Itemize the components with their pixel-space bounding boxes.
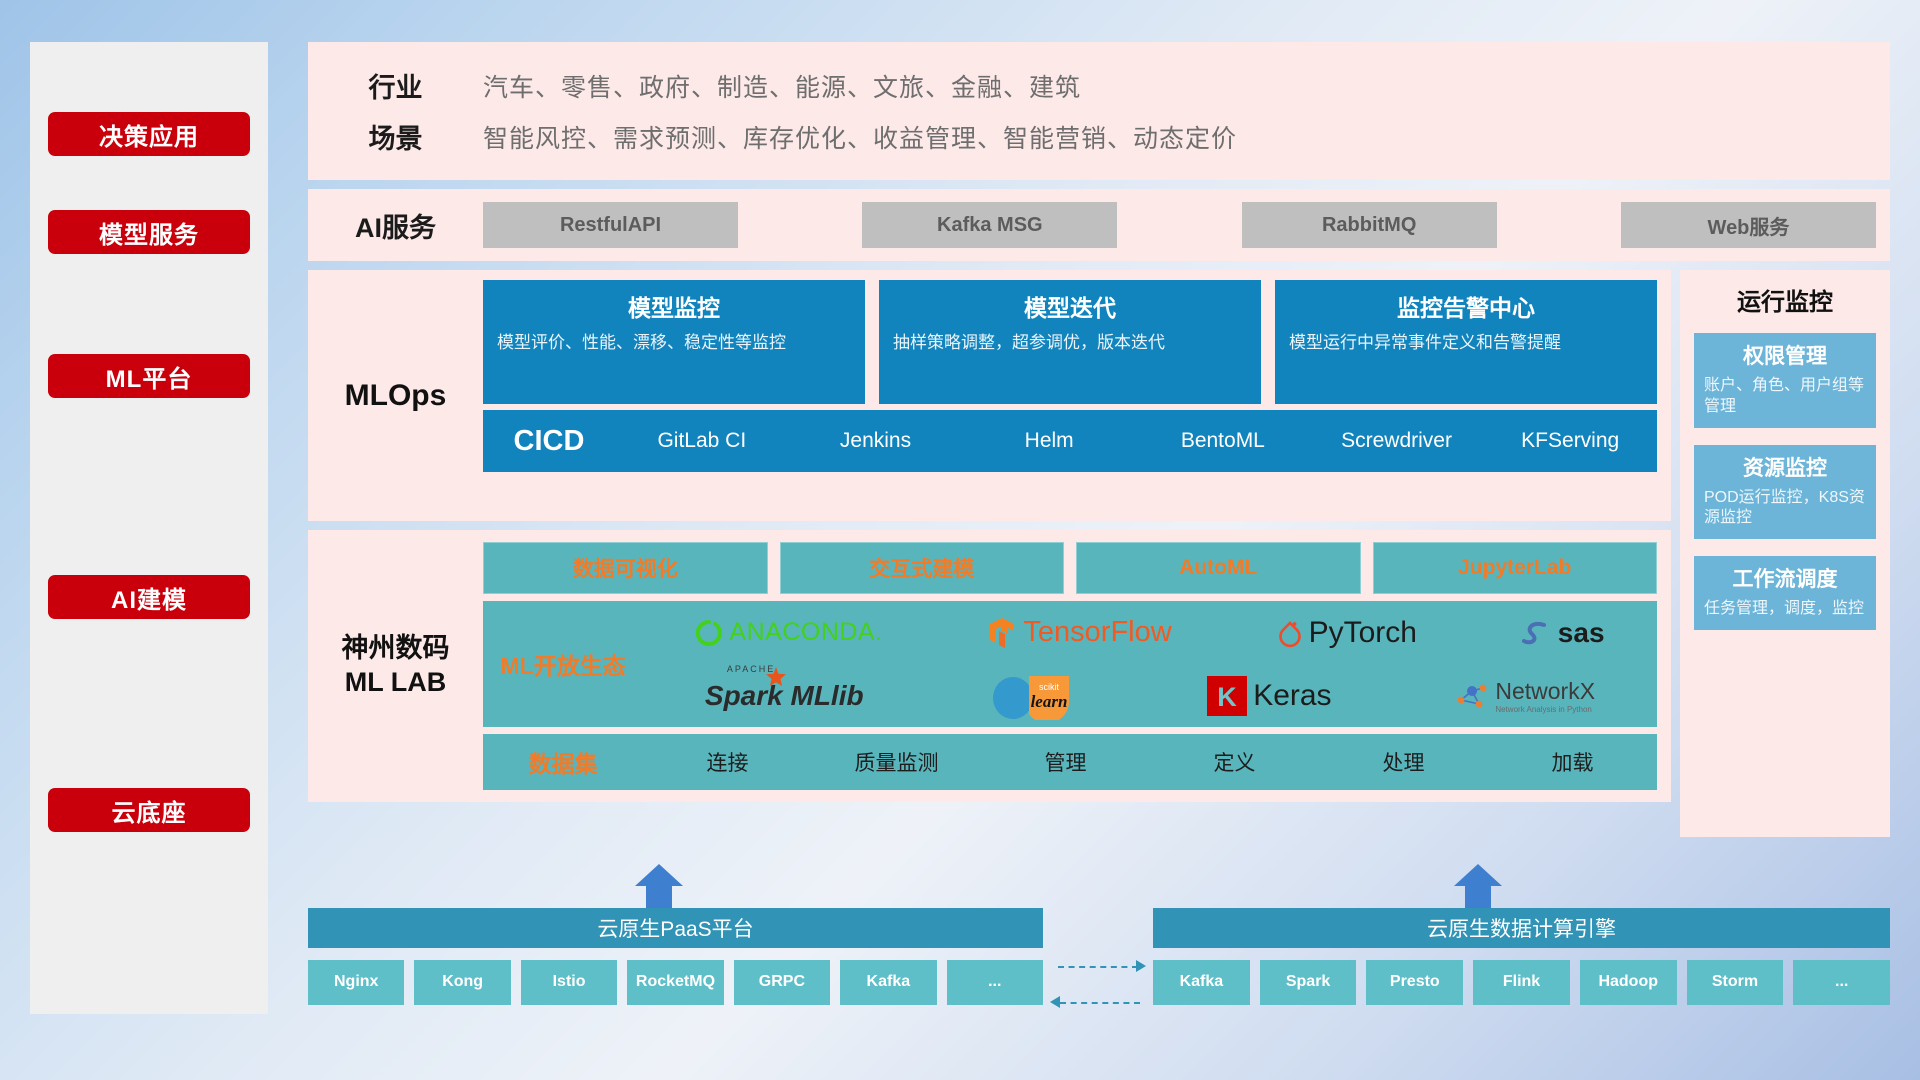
dataset-title: 数据集 xyxy=(483,745,643,779)
anaconda-icon xyxy=(695,619,723,647)
industry-scenario-band: 行业 汽车、零售、政府、制造、能源、文旅、金融、建筑 场景 智能风控、需求预测、… xyxy=(308,42,1890,180)
mlops-band: MLOps 模型监控 模型评价、性能、漂移、稳定性等监控 模型迭代 抽样策略调整… xyxy=(308,270,1671,521)
cicd-bar: CICD GitLab CI Jenkins Helm BentoML Scre… xyxy=(483,410,1657,472)
cicd-item[interactable]: Jenkins xyxy=(789,430,963,452)
mlops-card-title: 模型监控 xyxy=(497,289,851,323)
industry-label: 行业 xyxy=(308,66,483,105)
layer-rail: 决策应用 模型服务 ML平台 AI建模 云底座 xyxy=(30,42,268,1014)
ml-lab-band: 神州数码 ML LAB 数据可视化 交互式建模 AutoML JupyterLa… xyxy=(308,530,1671,802)
cicd-title: CICD xyxy=(483,425,615,458)
ecosystem-logo-row-1: ANACONDA. TensorFlow xyxy=(643,601,1657,664)
cicd-item[interactable]: GitLab CI xyxy=(615,430,789,452)
ai-service-band: AI服务 RestfulAPI Kafka MSG RabbitMQ Web服务 xyxy=(308,189,1890,261)
ecosystem-logo-row-2: APACHE Spark MLlib scikit xyxy=(643,664,1657,727)
networkx-subtitle: Network Analysis in Python xyxy=(1495,705,1595,714)
rail-item-label: 云底座 xyxy=(112,793,187,828)
cloud-paas-chip-list: Nginx Kong Istio RocketMQ GRPC Kafka ... xyxy=(308,960,1043,1005)
cloud-compute-bar[interactable]: 云原生数据计算引擎 xyxy=(1153,908,1890,948)
dataset-item[interactable]: 定义 xyxy=(1150,747,1319,777)
rail-item-label: 模型服务 xyxy=(99,215,199,250)
monitor-card-title: 权限管理 xyxy=(1704,340,1866,370)
scenario-row: 场景 智能风控、需求预测、库存优化、收益管理、智能营销、动态定价 xyxy=(308,111,1890,162)
cloud-chip[interactable]: Storm xyxy=(1687,960,1784,1005)
mlops-card-model-iteration[interactable]: 模型迭代 抽样策略调整，超参调优，版本迭代 xyxy=(879,280,1261,404)
arrow-up-right-head xyxy=(1454,864,1502,886)
keras-label: Keras xyxy=(1253,679,1331,713)
cloud-chip[interactable]: RocketMQ xyxy=(627,960,723,1005)
cloud-chip[interactable]: Kong xyxy=(414,960,510,1005)
tool-data-visualization[interactable]: 数据可视化 xyxy=(483,542,768,594)
industry-values: 汽车、零售、政府、制造、能源、文旅、金融、建筑 xyxy=(483,68,1081,104)
modeling-row: 神州数码 ML LAB 数据可视化 交互式建模 AutoML JupyterLa… xyxy=(308,530,1890,802)
spark-mllib-logo: APACHE Spark MLlib xyxy=(705,680,864,712)
rail-item-decision[interactable]: 决策应用 xyxy=(48,112,250,156)
cloud-paas-bar[interactable]: 云原生PaaS平台 xyxy=(308,908,1043,948)
cloud-chip[interactable]: Hadoop xyxy=(1580,960,1677,1005)
cloud-chip[interactable]: Kafka xyxy=(840,960,936,1005)
mlops-card-desc: 模型运行中异常事件定义和告警提醒 xyxy=(1289,332,1643,355)
dashed-arrow-right-head xyxy=(1136,960,1146,972)
mlops-card-title: 模型迭代 xyxy=(893,289,1247,323)
spark-star-icon xyxy=(765,666,787,688)
cloud-chip[interactable]: Nginx xyxy=(308,960,404,1005)
architecture-main: 行业 汽车、零售、政府、制造、能源、文旅、金融、建筑 场景 智能风控、需求预测、… xyxy=(308,42,1890,802)
cloud-chip[interactable]: Flink xyxy=(1473,960,1570,1005)
anaconda-logo: ANACONDA. xyxy=(695,618,882,647)
cloud-chip[interactable]: Presto xyxy=(1366,960,1463,1005)
dataset-item[interactable]: 处理 xyxy=(1319,747,1488,777)
ml-lab-label-line2: ML LAB xyxy=(345,666,447,700)
ai-service-chip[interactable]: RestfulAPI xyxy=(483,202,738,248)
tool-interactive-modeling[interactable]: 交互式建模 xyxy=(780,542,1065,594)
networkx-logo: NetworkX Network Analysis in Python xyxy=(1455,678,1595,714)
cloud-chip[interactable]: Istio xyxy=(521,960,617,1005)
cicd-item-list: GitLab CI Jenkins Helm BentoML Screwdriv… xyxy=(615,430,1657,452)
ai-service-chip[interactable]: Web服务 xyxy=(1621,202,1876,248)
tensorflow-logo: TensorFlow xyxy=(987,616,1171,649)
monitor-card-permissions[interactable]: 权限管理 账户、角色、用户组等管理 xyxy=(1694,333,1876,428)
monitor-card-desc: POD运行监控，K8S资源监控 xyxy=(1704,488,1866,530)
keras-logo: K Keras xyxy=(1207,676,1331,716)
mlops-card-desc: 抽样策略调整，超参调优，版本迭代 xyxy=(893,332,1247,355)
monitor-card-resources[interactable]: 资源监控 POD运行监控，K8S资源监控 xyxy=(1694,445,1876,540)
dataset-item[interactable]: 连接 xyxy=(643,747,812,777)
rail-item-label: 决策应用 xyxy=(99,117,199,152)
cloud-compute-group: 云原生数据计算引擎 Kafka Spark Presto Flink Hadoo… xyxy=(1153,908,1890,1005)
cloud-chip[interactable]: Kafka xyxy=(1153,960,1250,1005)
svg-text:K: K xyxy=(1217,682,1237,712)
rail-item-cloud-base[interactable]: 云底座 xyxy=(48,788,250,832)
cloud-chip[interactable]: ... xyxy=(947,960,1043,1005)
dashed-arrow-left xyxy=(1060,1002,1140,1004)
ai-service-chip[interactable]: Kafka MSG xyxy=(862,202,1117,248)
rail-item-model-service[interactable]: 模型服务 xyxy=(48,210,250,254)
scikit-learn-logo: scikit learn xyxy=(987,672,1083,720)
tool-automl[interactable]: AutoML xyxy=(1076,542,1361,594)
dashed-arrow-left-head xyxy=(1050,996,1060,1008)
dataset-item[interactable]: 质量监测 xyxy=(812,747,981,777)
dataset-item-list: 连接 质量监测 管理 定义 处理 加载 xyxy=(643,747,1657,777)
cicd-item[interactable]: KFServing xyxy=(1483,430,1657,452)
dataset-row: 数据集 连接 质量监测 管理 定义 处理 加载 xyxy=(483,734,1657,790)
cicd-item[interactable]: Helm xyxy=(962,430,1136,452)
ml-ecosystem-label: ML开放生态 xyxy=(483,647,643,681)
mlops-card-list: 模型监控 模型评价、性能、漂移、稳定性等监控 模型迭代 抽样策略调整，超参调优，… xyxy=(483,280,1657,404)
cloud-chip[interactable]: Spark xyxy=(1260,960,1357,1005)
tensorflow-label: TensorFlow xyxy=(1023,616,1171,649)
mlops-card-title: 监控告警中心 xyxy=(1289,289,1643,323)
ml-lab-label-line1: 神州数码 xyxy=(342,632,450,666)
scenario-label: 场景 xyxy=(308,117,483,156)
keras-icon: K xyxy=(1207,676,1247,716)
pytorch-icon xyxy=(1277,618,1303,648)
sas-logo: sas xyxy=(1522,617,1605,649)
networkx-label: NetworkX xyxy=(1495,678,1595,705)
ai-service-chip[interactable]: RabbitMQ xyxy=(1242,202,1497,248)
rail-item-ai-modeling[interactable]: AI建模 xyxy=(48,575,250,619)
dataset-item[interactable]: 加载 xyxy=(1488,747,1657,777)
rail-item-label: AI建模 xyxy=(111,580,187,615)
svg-text:learn: learn xyxy=(1031,692,1068,711)
cloud-chip[interactable]: ... xyxy=(1793,960,1890,1005)
mlops-row: MLOps 模型监控 模型评价、性能、漂移、稳定性等监控 模型迭代 抽样策略调整… xyxy=(308,270,1890,521)
runtime-monitor-title: 运行监控 xyxy=(1694,282,1876,317)
sas-icon xyxy=(1522,619,1552,647)
rail-item-ml-platform[interactable]: ML平台 xyxy=(48,354,250,398)
dashed-arrow-right xyxy=(1058,966,1138,968)
rail-item-label: ML平台 xyxy=(106,359,193,394)
ai-service-label: AI服务 xyxy=(308,206,483,245)
mlops-card-desc: 模型评价、性能、漂移、稳定性等监控 xyxy=(497,332,851,355)
svg-text:scikit: scikit xyxy=(1039,682,1059,692)
arrow-up-left-head xyxy=(635,864,683,886)
pytorch-label: PyTorch xyxy=(1309,616,1417,650)
tensorflow-icon xyxy=(987,617,1017,649)
cloud-compute-chip-list: Kafka Spark Presto Flink Hadoop Storm ..… xyxy=(1153,960,1890,1005)
dataset-item[interactable]: 管理 xyxy=(981,747,1150,777)
cicd-item[interactable]: BentoML xyxy=(1136,430,1310,452)
cicd-item[interactable]: Screwdriver xyxy=(1310,430,1484,452)
ai-service-chip-list: RestfulAPI Kafka MSG RabbitMQ Web服务 xyxy=(483,202,1890,248)
monitor-card-title: 资源监控 xyxy=(1704,452,1866,482)
mlops-card-model-monitoring[interactable]: 模型监控 模型评价、性能、漂移、稳定性等监控 xyxy=(483,280,865,404)
ml-ecosystem-row: ML开放生态 ANACONDA. xyxy=(483,601,1657,727)
scikit-learn-icon: scikit learn xyxy=(987,672,1083,720)
mlops-card-alert-center[interactable]: 监控告警中心 模型运行中异常事件定义和告警提醒 xyxy=(1275,280,1657,404)
cloud-foundation-section: 云原生PaaS平台 Nginx Kong Istio RocketMQ GRPC… xyxy=(308,880,1890,1050)
scenario-values: 智能风控、需求预测、库存优化、收益管理、智能营销、动态定价 xyxy=(483,119,1237,155)
cloud-paas-group: 云原生PaaS平台 Nginx Kong Istio RocketMQ GRPC… xyxy=(308,908,1043,1005)
sas-label: sas xyxy=(1558,617,1605,649)
modeling-tool-list: 数据可视化 交互式建模 AutoML JupyterLab xyxy=(483,542,1657,594)
cloud-chip[interactable]: GRPC xyxy=(734,960,830,1005)
networkx-icon xyxy=(1455,680,1489,712)
anaconda-label: ANACONDA. xyxy=(729,618,882,647)
industry-row: 行业 汽车、零售、政府、制造、能源、文旅、金融、建筑 xyxy=(308,60,1890,111)
tool-jupyterlab[interactable]: JupyterLab xyxy=(1373,542,1658,594)
mlops-label: MLOps xyxy=(308,280,483,511)
ml-lab-label: 神州数码 ML LAB xyxy=(308,542,483,790)
monitor-card-desc: 账户、角色、用户组等管理 xyxy=(1704,376,1866,418)
pytorch-logo: PyTorch xyxy=(1277,616,1417,650)
